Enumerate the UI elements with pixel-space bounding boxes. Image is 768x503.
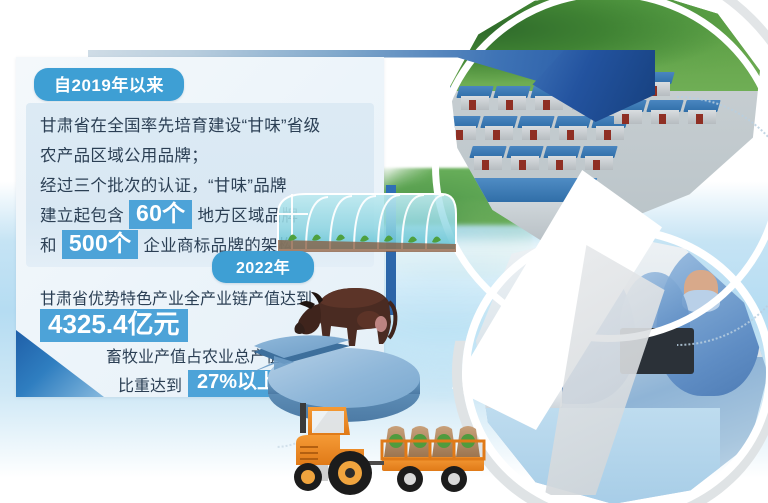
total-output-value-highlight: 4325.4亿元 [40,309,188,342]
brand-line-1: 甘肃省在全国率先培育建设“甘味”省级 [40,109,364,139]
greenhouse-illustration [272,188,462,254]
since-year-badge: 自2019年以来 [34,68,184,101]
tractor-illustration [278,395,498,500]
brand-line-2-text: 农产品区域公用品牌； [40,142,208,166]
brand-line-1-text: 甘肃省在全国率先培育建设“甘味”省级 [40,112,320,136]
output-line-1-text: 甘肃省优势特色产业全产业链产值达到 [40,285,312,309]
regional-brand-count-highlight: 60个 [129,200,192,229]
enterprise-brand-count-highlight: 500个 [62,230,139,259]
infographic-canvas: 自2019年以来 甘肃省在全国率先培育建设“甘味”省级 农产品区域公用品牌； 经… [0,0,768,503]
livestock-share-prefix: 比重达到 [118,372,182,396]
brand-line-4-prefix: 建立起包含 [40,202,124,226]
brand-line-3-text: 经过三个批次的认证，“甘味”品牌 [40,172,287,196]
brand-line-5-prefix: 和 [40,232,57,256]
tractor-svg [278,395,498,500]
greenhouse-svg [272,188,462,254]
brand-line-2: 农产品区域公用品牌； [40,139,364,169]
